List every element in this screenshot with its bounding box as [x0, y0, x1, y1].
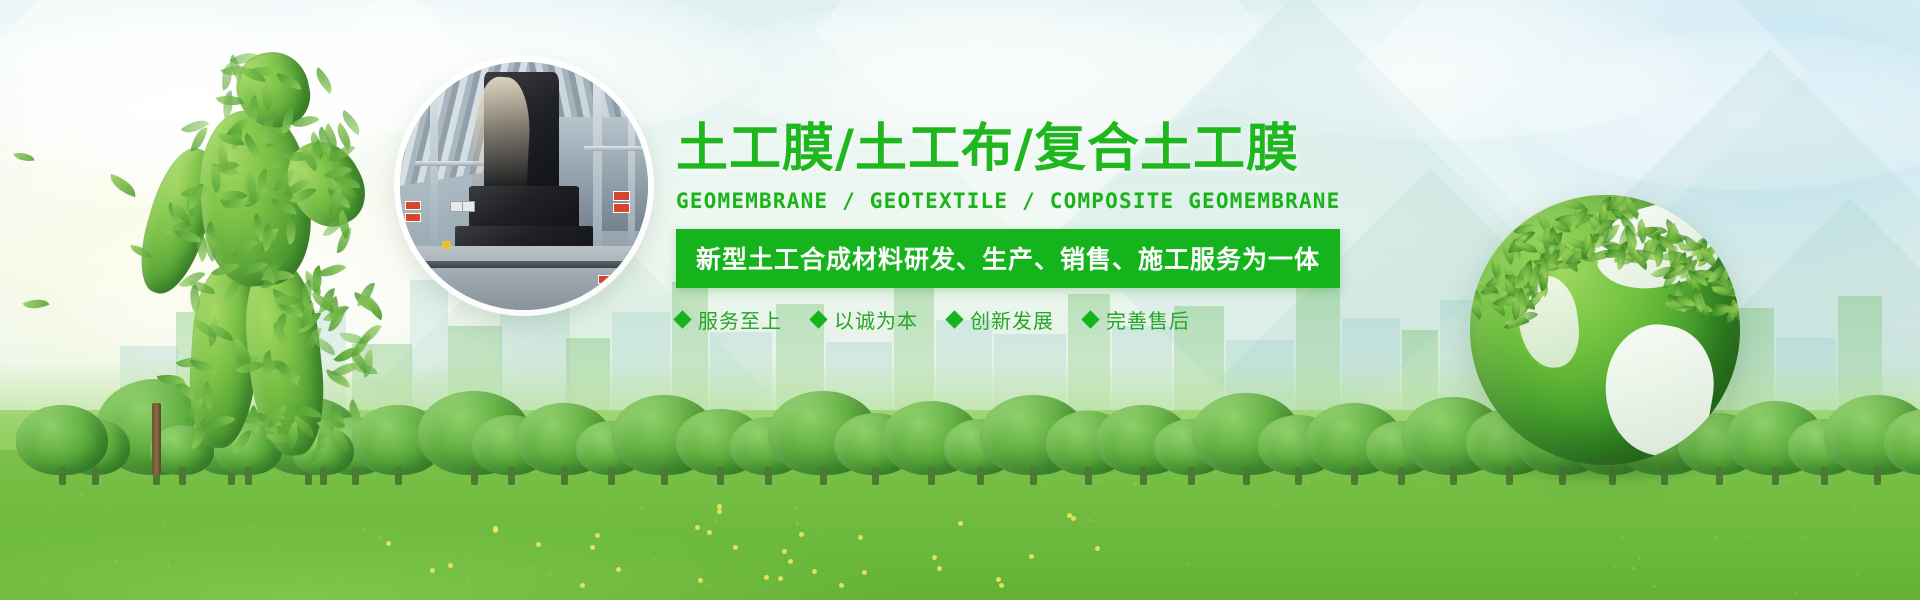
- leaf-icon: [318, 257, 347, 283]
- grass-detail: [1097, 479, 1100, 482]
- grass-detail: [33, 555, 34, 556]
- grass-detail: [1634, 529, 1636, 531]
- grass-detail: [1043, 486, 1045, 488]
- flower-icon: [698, 578, 703, 583]
- flower-icon: [717, 509, 722, 514]
- grass-detail: [1799, 544, 1801, 546]
- grass-detail: [464, 570, 465, 571]
- grass-detail: [821, 528, 825, 532]
- grass-detail: [1100, 594, 1102, 596]
- feature-label: 创新发展: [970, 305, 1054, 334]
- feature-item-1: 服务至上: [676, 305, 782, 334]
- grass-detail: [112, 550, 114, 552]
- grass-detail: [350, 593, 354, 597]
- grass-detail: [1448, 542, 1450, 544]
- grass-detail: [518, 587, 521, 590]
- leaf-icon: [310, 68, 338, 95]
- grass-detail: [315, 534, 318, 537]
- grass-detail: [105, 521, 106, 522]
- grass-detail: [46, 579, 48, 581]
- flower-icon: [799, 532, 804, 537]
- grass-detail: [10, 573, 12, 575]
- grass-detail: [106, 537, 108, 539]
- grass-detail: [981, 537, 983, 539]
- grass-detail: [654, 557, 657, 560]
- leaf-person-figure: [145, 48, 380, 468]
- photo-hazard-marker: [442, 241, 451, 249]
- grass-detail: [842, 564, 843, 565]
- flower-icon: [448, 563, 453, 568]
- grass-detail: [367, 574, 370, 577]
- grass-detail: [952, 542, 956, 546]
- flower-icon: [733, 545, 738, 550]
- grass-detail: [1619, 562, 1621, 564]
- feature-item-3: 创新发展: [948, 305, 1054, 334]
- grass-detail: [1513, 591, 1515, 593]
- grass-detail: [1804, 536, 1808, 540]
- flower-icon: [937, 566, 942, 571]
- photo-warning-sign: [405, 201, 421, 210]
- grass-detail: [429, 539, 432, 542]
- flower-icon: [590, 545, 595, 550]
- flower-icon: [493, 528, 498, 533]
- grass-detail: [1431, 480, 1434, 483]
- banner-text-block: 土工膜/土工布/复合土工膜 GEOMEMBRANE / GEOTEXTILE /…: [676, 122, 1396, 334]
- photo-warning-sign: [613, 203, 630, 213]
- grass-detail: [1612, 564, 1616, 568]
- photo-control-panel: [450, 201, 463, 212]
- flower-icon: [778, 576, 783, 581]
- banner-subheadline-english: GEOMEMBRANE / GEOTEXTILE / COMPOSITE GEO…: [676, 189, 1396, 213]
- grass-detail: [378, 535, 382, 539]
- grass-detail: [80, 493, 83, 496]
- grass-detail: [114, 559, 117, 562]
- grass-detail: [1133, 482, 1137, 486]
- flower-icon: [595, 533, 600, 538]
- flower-icon: [839, 583, 844, 588]
- grass-detail: [1723, 507, 1724, 508]
- grass-detail: [167, 588, 168, 589]
- grass-detail: [849, 478, 851, 480]
- diamond-bullet-icon: [673, 310, 691, 328]
- photo-warning-sign: [405, 213, 421, 222]
- grass-detail: [1794, 592, 1798, 596]
- feature-label: 服务至上: [698, 305, 782, 334]
- grass-detail: [65, 514, 68, 517]
- feature-item-4: 完善售后: [1084, 305, 1190, 334]
- green-earth-globe: [1470, 195, 1740, 465]
- grass-detail: [498, 536, 500, 538]
- leaf-icon: [342, 399, 368, 428]
- grass-detail: [623, 539, 626, 542]
- grass-detail: [110, 576, 111, 577]
- banner-feature-list: 服务至上以诚为本创新发展完善售后: [676, 305, 1396, 334]
- grass-detail: [108, 508, 111, 511]
- globe-vine-overlay: [1470, 195, 1740, 465]
- grass-detail: [548, 572, 552, 576]
- grass-detail: [1324, 537, 1326, 539]
- flower-icon: [782, 549, 787, 554]
- grass-detail: [1186, 562, 1188, 564]
- diamond-bullet-icon: [1081, 310, 1099, 328]
- diamond-bullet-icon: [945, 310, 963, 328]
- flower-icon: [386, 541, 391, 546]
- grass-detail: [1274, 503, 1278, 507]
- grass-detail: [533, 566, 536, 569]
- grass-detail: [1890, 541, 1891, 542]
- photo-steel-column: [628, 77, 635, 246]
- feature-item-2: 以诚为本: [812, 305, 918, 334]
- diamond-bullet-icon: [809, 310, 827, 328]
- grass-detail: [302, 577, 305, 580]
- grass-detail: [1910, 537, 1911, 538]
- grass-detail: [467, 557, 470, 560]
- grass-detail: [1789, 481, 1791, 483]
- grass-detail: [794, 506, 798, 510]
- grass-detail: [714, 519, 717, 522]
- grass-detail: [252, 552, 254, 554]
- flower-icon: [932, 555, 937, 560]
- grass-detail: [1656, 569, 1658, 571]
- grass-detail: [1631, 566, 1635, 570]
- flower-icon: [1071, 516, 1076, 521]
- grass-detail: [390, 552, 393, 555]
- grass-detail: [1885, 582, 1887, 584]
- grass-detail: [1653, 585, 1656, 588]
- globe-shadow: [1486, 449, 1724, 483]
- photo-warning-sign: [598, 275, 612, 284]
- flower-icon: [580, 583, 585, 588]
- grass-detail: [336, 578, 338, 580]
- flower-icon: [536, 542, 541, 547]
- photo-warning-sign: [613, 191, 630, 201]
- grass-detail: [1448, 596, 1451, 599]
- grass-detail: [1306, 481, 1308, 483]
- grass-detail: [608, 514, 610, 516]
- grass-detail: [1192, 501, 1193, 502]
- flower-icon: [999, 583, 1004, 588]
- photo-steel-column: [593, 62, 602, 255]
- flower-icon: [788, 559, 793, 564]
- grass-detail: [707, 584, 710, 587]
- grass-detail: [275, 550, 276, 551]
- grass-detail: [1052, 586, 1054, 588]
- globe-sphere: [1470, 195, 1740, 465]
- flower-icon: [695, 525, 700, 530]
- grass-detail: [1857, 545, 1860, 548]
- grass-detail: [361, 528, 364, 531]
- flower-icon: [430, 568, 435, 573]
- flower-icon: [764, 575, 769, 580]
- grass-detail: [1423, 484, 1425, 486]
- grass-detail: [1750, 565, 1754, 569]
- feature-label: 以诚为本: [834, 305, 918, 334]
- grass-detail: [1745, 535, 1749, 539]
- grass-detail: [1653, 575, 1655, 577]
- grass-detail: [252, 526, 255, 529]
- grass-detail: [970, 497, 972, 499]
- grass-detail: [602, 506, 605, 509]
- photo-steel-brace: [584, 146, 648, 151]
- grass-detail: [767, 531, 768, 532]
- photo-control-panel: [462, 201, 475, 212]
- flower-icon: [1095, 546, 1100, 551]
- flower-icon: [616, 567, 621, 572]
- flower-icon: [862, 570, 867, 575]
- grass-detail: [1629, 595, 1631, 597]
- grass-detail: [1122, 494, 1124, 496]
- flower-icon: [958, 521, 963, 526]
- grass-detail: [54, 510, 57, 513]
- grass-detail: [796, 521, 799, 524]
- promo-banner: 土工膜/土工布/复合土工膜 GEOMEMBRANE / GEOTEXTILE /…: [0, 0, 1920, 600]
- grass-detail: [167, 564, 170, 567]
- photo-machine-rail: [400, 261, 648, 268]
- grass-detail: [1020, 509, 1021, 510]
- tree-icon: [16, 405, 108, 475]
- grass-detail: [741, 580, 742, 581]
- flower-icon: [1029, 554, 1034, 559]
- grass-detail: [467, 578, 470, 581]
- grass-detail: [1686, 589, 1687, 590]
- grass-detail: [471, 565, 473, 567]
- flower-icon: [707, 530, 712, 535]
- leaf-icon: [326, 426, 354, 453]
- grass-detail: [42, 541, 43, 542]
- grass-detail: [806, 549, 807, 550]
- flower-icon: [812, 569, 817, 574]
- banner-headline: 土工膜/土工布/复合土工膜: [676, 122, 1396, 177]
- grass-detail: [1085, 543, 1087, 545]
- grass-detail: [280, 475, 282, 477]
- feature-label: 完善售后: [1106, 305, 1190, 334]
- grass-detail: [1853, 507, 1857, 511]
- grass-detail: [781, 515, 783, 517]
- grass-detail: [510, 571, 511, 572]
- grass-detail: [1272, 573, 1273, 574]
- grass-detail: [107, 547, 108, 548]
- grass-detail: [163, 520, 166, 523]
- flower-icon: [858, 535, 863, 540]
- grass-detail: [1856, 572, 1859, 575]
- grass-detail: [1638, 557, 1641, 560]
- banner-green-highlight-bar: 新型土工合成材料研发、生产、销售、施工服务为一体: [676, 229, 1340, 288]
- grass-detail: [1715, 536, 1718, 539]
- grass-detail: [1621, 536, 1623, 538]
- grass-detail: [1277, 554, 1279, 556]
- grass-detail: [724, 532, 726, 534]
- flower-icon: [996, 577, 1001, 582]
- grass-detail: [732, 538, 733, 539]
- grass-detail: [640, 506, 643, 509]
- grass-detail: [128, 521, 129, 522]
- factory-photo-circle: [400, 62, 648, 310]
- grass-detail: [1089, 518, 1093, 522]
